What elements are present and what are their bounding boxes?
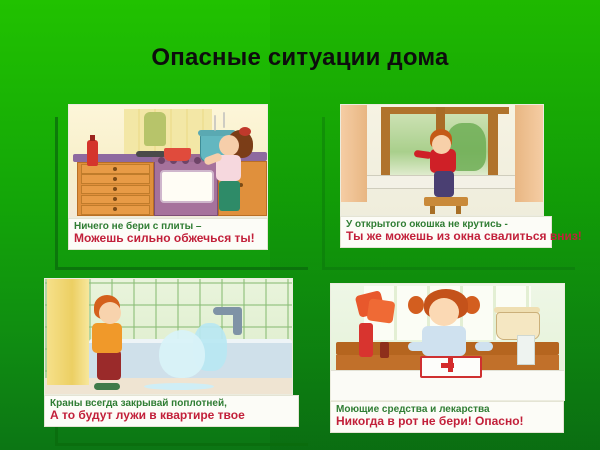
caption-medicine: Моющие средства и лекарства Никогда в ро…: [330, 401, 564, 433]
open-window-illustration: [340, 104, 544, 216]
caption-window: У открытого окошка не крутись - Ты же мо…: [340, 216, 552, 248]
card-stove: Ничего не бери с плиты – Можешь сильно о…: [68, 104, 268, 250]
card-window: У открытого окошка не крутись - Ты же мо…: [340, 104, 552, 248]
card-medicine: Моющие средства и лекарства Никогда в ро…: [330, 283, 565, 433]
caption-line-2: А то будут лужи в квартире твое: [50, 409, 293, 422]
caption-line-2: Можешь сильно обжечься ты!: [74, 232, 262, 245]
kitchen-stove-illustration: [68, 104, 268, 218]
caption-stove: Ничего не бери с плиты – Можешь сильно о…: [68, 218, 268, 250]
caption-line-2: Ты же можешь из окна свалиться вниз!: [346, 230, 546, 243]
caption-tap: Краны всегда закрывай поплотней, А то бу…: [44, 395, 299, 427]
slide-canvas: Опасные ситуации дома: [0, 0, 600, 450]
caption-line-2: Никогда в рот не бери! Опасно!: [336, 415, 558, 428]
card-tap: Краны всегда закрывай поплотней, А то бу…: [44, 278, 299, 427]
bathroom-overflow-illustration: [44, 278, 293, 395]
page-title: Опасные ситуации дома: [0, 44, 600, 72]
first-aid-kit-illustration: [330, 283, 565, 401]
